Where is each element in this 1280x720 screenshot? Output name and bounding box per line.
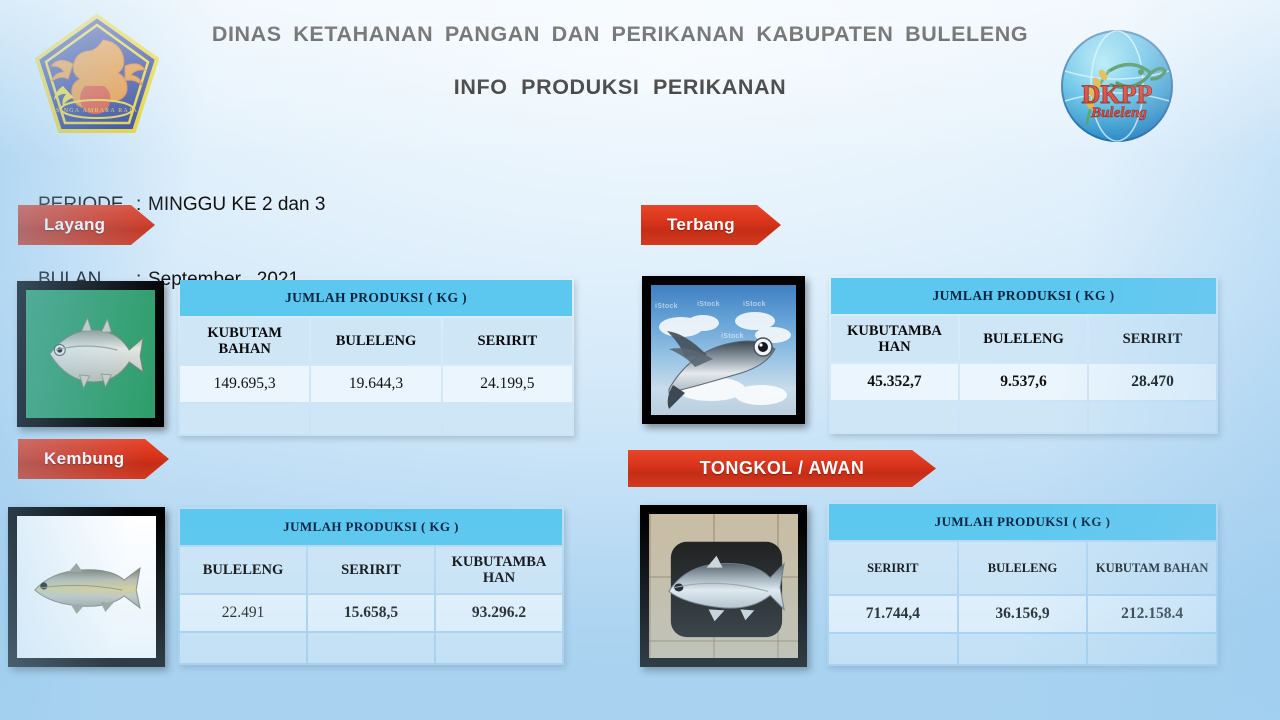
- table-row: 71.744,4 36.156,9 212.158.4: [829, 596, 1216, 632]
- table-row: 22.491 15.658,5 93.296.2: [180, 595, 562, 631]
- table-row: 149.695,3 19.644,3 24.199,5: [180, 366, 572, 402]
- table-kembung-value-3: 93.296.2: [436, 595, 562, 631]
- table-tongkol-empty-3: [1088, 634, 1216, 664]
- table-terbang-caption: JUMLAH PRODUKSI ( KG ): [831, 278, 1216, 314]
- banner-terbang[interactable]: Terbang: [641, 205, 781, 245]
- table-layang: JUMLAH PRODUKSI ( KG ) KUBUTAM BAHAN BUL…: [178, 278, 574, 436]
- title-line-1: DINAS KETAHANAN PANGAN DAN PERIKANAN KAB…: [190, 22, 1050, 47]
- table-header-row: KUBUTAM BAHAN BULELENG SERIRIT: [180, 318, 572, 364]
- photo-ikan-terbang: iStock iStock iStock iStock: [642, 276, 805, 424]
- photo-ikan-kembung: [8, 507, 165, 667]
- table-kembung: JUMLAH PRODUKSI ( KG ) BULELENG SERIRIT …: [178, 507, 564, 665]
- table-kembung-col-3: KUBUTAMBA HAN: [436, 547, 562, 593]
- table-tongkol-value-1: 71.744,4: [829, 596, 957, 632]
- page-title: DINAS KETAHANAN PANGAN DAN PERIKANAN KAB…: [190, 22, 1050, 100]
- table-layang-value-3: 24.199,5: [443, 366, 572, 402]
- buleleng-regency-emblem-icon: SINGA AMBARA RAJA: [33, 12, 161, 137]
- table-terbang: JUMLAH PRODUKSI ( KG ) KUBUTAMBA HAN BUL…: [829, 276, 1218, 434]
- banner-layang[interactable]: Layang: [18, 205, 155, 245]
- photo-ikan-kembung-image: [17, 516, 156, 658]
- table-row-empty: [180, 404, 572, 434]
- table-row-empty: [831, 402, 1216, 432]
- table-terbang-col-3: SERIRIT: [1089, 316, 1216, 362]
- photo-ikan-tongkol-image: [649, 514, 798, 658]
- table-layang-value-1: 149.695,3: [180, 366, 309, 402]
- table-terbang-empty-2: [960, 402, 1087, 432]
- table-layang-value-2: 19.644,3: [311, 366, 440, 402]
- table-kembung-col-1: BULELENG: [180, 547, 306, 593]
- dkpp-logo-subtext: Buleleng: [1090, 105, 1147, 121]
- photo-ikan-tongkol: [640, 505, 807, 667]
- table-tongkol-empty-1: [829, 634, 957, 664]
- table-terbang-empty-1: [831, 402, 958, 432]
- table-tongkol-value-3: 212.158.4: [1088, 596, 1216, 632]
- table-kembung-caption: JUMLAH PRODUKSI ( KG ): [180, 509, 562, 545]
- table-caption-row: JUMLAH PRODUKSI ( KG ): [180, 280, 572, 316]
- banner-kembung[interactable]: Kembung: [18, 439, 169, 479]
- table-caption-row: JUMLAH PRODUKSI ( KG ): [180, 509, 562, 545]
- table-tongkol-value-2: 36.156,9: [959, 596, 1087, 632]
- table-layang-col-3: SERIRIT: [443, 318, 572, 364]
- table-terbang-empty-3: [1089, 402, 1216, 432]
- table-terbang-value-3: 28.470: [1089, 364, 1216, 400]
- table-caption-row: JUMLAH PRODUKSI ( KG ): [829, 504, 1216, 540]
- banner-tongkol-awan[interactable]: TONGKOL / AWAN: [628, 450, 936, 487]
- watermark-istock-3: iStock: [743, 301, 766, 308]
- table-kembung-value-2: 15.658,5: [308, 595, 434, 631]
- slide-canvas: SINGA AMBARA RAJA: [0, 0, 1280, 720]
- watermark-istock-1: iStock: [655, 303, 678, 310]
- table-row-empty: [180, 633, 562, 663]
- svg-text:SINGA AMBARA RAJA: SINGA AMBARA RAJA: [56, 108, 138, 114]
- table-terbang-value-2: 9.537,6: [960, 364, 1087, 400]
- table-tongkol-col-3: KUBUTAM BAHAN: [1088, 542, 1216, 594]
- table-terbang-col-2: BULELENG: [960, 316, 1087, 362]
- table-kembung-empty-3: [436, 633, 562, 663]
- table-tongkol-caption: JUMLAH PRODUKSI ( KG ): [829, 504, 1216, 540]
- table-header-row: SERIRIT BULELENG KUBUTAM BAHAN: [829, 542, 1216, 594]
- table-layang-empty-2: [311, 404, 440, 434]
- dkpp-buleleng-logo-icon: DKPP Buleleng: [1057, 27, 1177, 146]
- table-kembung-col-2: SERIRIT: [308, 547, 434, 593]
- period-value: MINGGU KE 2 dan 3: [148, 192, 325, 217]
- table-header-row: BULELENG SERIRIT KUBUTAMBA HAN: [180, 547, 562, 593]
- table-kembung-empty-2: [308, 633, 434, 663]
- table-tongkol: JUMLAH PRODUKSI ( KG ) SERIRIT BULELENG …: [827, 502, 1218, 666]
- table-tongkol-col-2: BULELENG: [959, 542, 1087, 594]
- table-kembung-value-1: 22.491: [180, 595, 306, 631]
- table-terbang-col-1: KUBUTAMBA HAN: [831, 316, 958, 362]
- table-layang-col-2: BULELENG: [311, 318, 440, 364]
- table-tongkol-col-1: SERIRIT: [829, 542, 957, 594]
- watermark-istock-2: iStock: [697, 301, 720, 308]
- table-layang-empty-3: [443, 404, 572, 434]
- table-row: 45.352,7 9.537,6 28.470: [831, 364, 1216, 400]
- table-layang-col-1: KUBUTAM BAHAN: [180, 318, 309, 364]
- table-layang-caption: JUMLAH PRODUKSI ( KG ): [180, 280, 572, 316]
- table-caption-row: JUMLAH PRODUKSI ( KG ): [831, 278, 1216, 314]
- table-row-empty: [829, 634, 1216, 664]
- photo-ikan-layang: [17, 281, 164, 427]
- table-kembung-empty-1: [180, 633, 306, 663]
- title-line-2: INFO PRODUKSI PERIKANAN: [190, 75, 1050, 100]
- photo-ikan-terbang-image: iStock iStock iStock iStock: [651, 285, 796, 415]
- table-terbang-value-1: 45.352,7: [831, 364, 958, 400]
- watermark-istock-4: iStock: [721, 333, 744, 340]
- table-header-row: KUBUTAMBA HAN BULELENG SERIRIT: [831, 316, 1216, 362]
- photo-ikan-layang-image: [26, 290, 155, 418]
- table-tongkol-empty-2: [959, 634, 1087, 664]
- table-layang-empty-1: [180, 404, 309, 434]
